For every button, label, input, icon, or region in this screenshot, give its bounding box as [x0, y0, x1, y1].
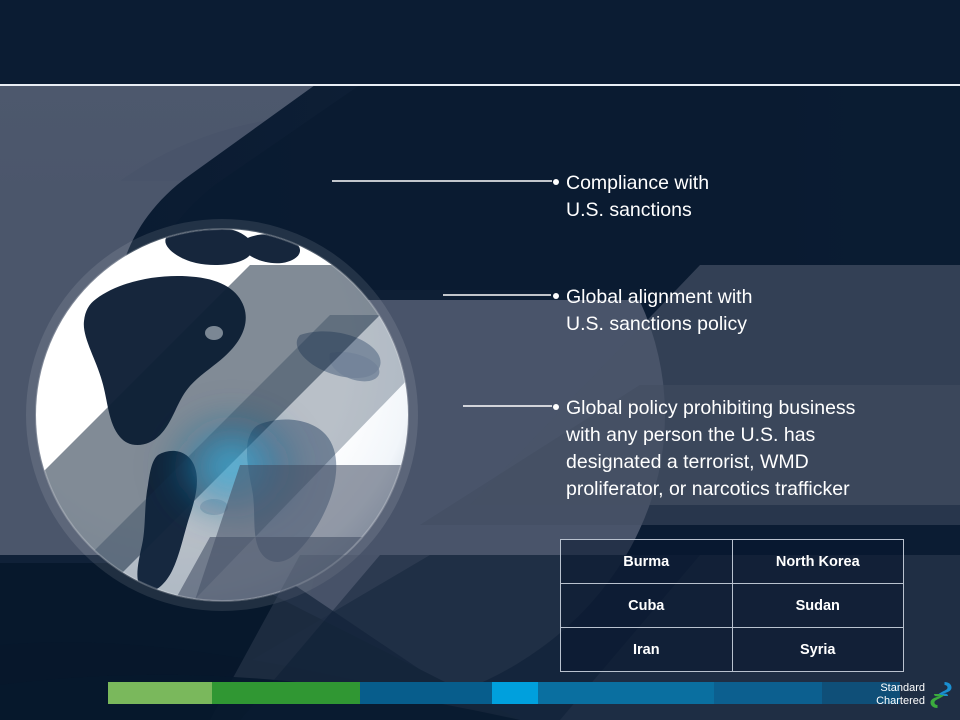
- bullet-1-line-2: U.S. sanctions: [566, 197, 896, 224]
- bullet-1-line-1: Compliance with: [566, 170, 896, 197]
- callout-bullet-1: Compliance with U.S. sanctions: [566, 170, 896, 224]
- table-cell-syria: Syria: [732, 628, 904, 672]
- table-row: Cuba Sudan: [561, 584, 904, 628]
- callout-bullet-2: Global alignment with U.S. sanctions pol…: [566, 284, 896, 338]
- standard-chartered-logo: Standard Chartered: [849, 680, 953, 712]
- bullet-3-line-1: Global policy prohibiting business: [566, 395, 906, 422]
- bullet-dot-icon: [553, 404, 559, 410]
- title-bar: [0, 0, 960, 85]
- footer-bar-segment-3: [492, 682, 538, 704]
- table-cell-north-korea: North Korea: [732, 540, 904, 584]
- bullet-3-line-3: designated a terrorist, WMD: [566, 449, 906, 476]
- footer-bar-segment-2: [360, 682, 492, 704]
- header-divider-rule: [0, 84, 960, 86]
- bullet-dot-icon: [553, 179, 559, 185]
- bullet-3-line-2: with any person the U.S. has: [566, 422, 906, 449]
- sanctioned-countries-table: Burma North Korea Cuba Sudan Iran Syria: [560, 539, 904, 672]
- table-row: Burma North Korea: [561, 540, 904, 584]
- bullet-2-line-2: U.S. sanctions policy: [566, 311, 896, 338]
- bullet-2-line-1: Global alignment with: [566, 284, 896, 311]
- table-cell-burma: Burma: [561, 540, 733, 584]
- footer-color-bar: [108, 682, 900, 704]
- table-cell-sudan: Sudan: [732, 584, 904, 628]
- standard-chartered-wordmark: Standard Chartered: [849, 682, 925, 708]
- callout-bullet-3: Global policy prohibiting business with …: [566, 395, 906, 503]
- brand-line-1: Standard: [849, 682, 925, 695]
- footer-bar-segment-1: [212, 682, 360, 704]
- footer-bar-segment-0: [108, 682, 212, 704]
- slide-canvas: Global Alignment With U.S. Sanctions Pol…: [0, 0, 960, 720]
- table-cell-iran: Iran: [561, 628, 733, 672]
- table-cell-cuba: Cuba: [561, 584, 733, 628]
- footer-bar-segment-4: [538, 682, 714, 704]
- footer-bar-segment-5: [714, 682, 822, 704]
- standard-chartered-mark-icon: [929, 681, 953, 709]
- table-row: Iran Syria: [561, 628, 904, 672]
- brand-line-2: Chartered: [849, 695, 925, 708]
- bullet-3-line-4: proliferator, or narcotics trafficker: [566, 476, 906, 503]
- bullet-dot-icon: [553, 293, 559, 299]
